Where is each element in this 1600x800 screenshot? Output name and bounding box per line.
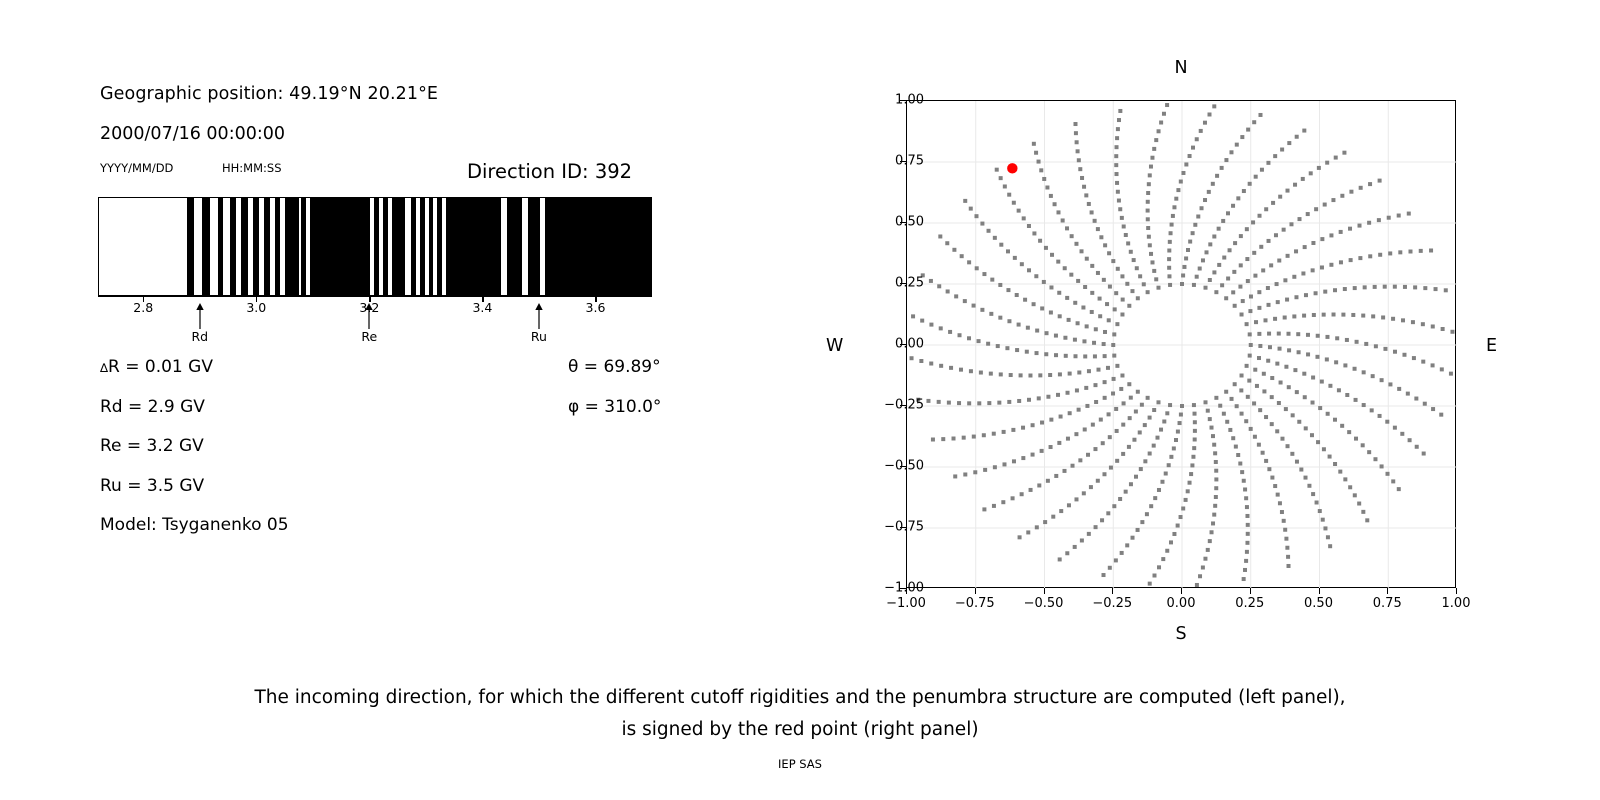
compass-south-label: S xyxy=(1175,624,1186,644)
penumbra-tick-label: 3.0 xyxy=(246,300,266,315)
penumbra-stripe xyxy=(275,198,281,295)
penumbra-stripe xyxy=(392,198,406,295)
time-format-hint: HH:MM:SS xyxy=(222,161,282,175)
x-axis-tick-mark xyxy=(1250,588,1251,594)
x-axis-tick-mark xyxy=(1319,588,1320,594)
penumbra-stripe xyxy=(310,198,370,295)
penumbra-stripe xyxy=(218,198,223,295)
penumbra-tick-label: 3.4 xyxy=(472,300,492,315)
y-axis-tick-label: 0.00 xyxy=(895,337,924,352)
parameter-text: Rd = 2.9 GV xyxy=(100,397,205,417)
y-axis-tick-label: 0.25 xyxy=(895,276,924,291)
date-format-hint: YYYY/MM/DD xyxy=(100,161,173,175)
x-axis-tick-label: −0.75 xyxy=(955,596,995,611)
footer-credit: IEP SAS xyxy=(778,757,822,771)
y-axis-tick-label: 1.00 xyxy=(895,93,924,108)
y-axis-tick-label: −1.00 xyxy=(884,581,924,596)
x-axis-tick-label: −0.50 xyxy=(1024,596,1064,611)
y-axis-tick-label: −0.25 xyxy=(884,398,924,413)
left-panel: Geographic position: 49.19°N 20.21°E 200… xyxy=(0,0,760,660)
penumbra-stripe xyxy=(253,198,259,295)
geographic-position-label: Geographic position: 49.19°N 20.21°E xyxy=(100,84,438,104)
parameter-text: Re = 3.2 GV xyxy=(100,436,204,456)
penumbra-stripe xyxy=(230,198,236,295)
parameter-text: Model: Tsyganenko 05 xyxy=(100,515,289,535)
penumbra-marker-label-re: Re xyxy=(361,329,377,344)
penumbra-stripe xyxy=(446,198,501,295)
x-axis-tick-label: 0.00 xyxy=(1167,596,1196,611)
penumbra-stripe xyxy=(374,198,379,295)
penumbra-chart xyxy=(98,197,652,296)
x-axis-tick-label: −1.00 xyxy=(886,596,926,611)
parameter-text: φ = 310.0° xyxy=(568,397,661,417)
parameter-text: θ = 69.89° xyxy=(568,357,661,377)
penumbra-stripe xyxy=(264,198,270,295)
caption-line-1: The incoming direction, for which the di… xyxy=(254,687,1345,708)
parameter-text: Ru = 3.5 GV xyxy=(100,476,204,496)
x-axis-tick-mark xyxy=(1181,588,1182,594)
selected-direction-point xyxy=(1007,163,1017,173)
penumbra-axis-line xyxy=(98,296,652,297)
x-axis-tick-mark xyxy=(1112,588,1113,594)
penumbra-stripe xyxy=(420,198,425,295)
compass-west-label: W xyxy=(826,336,843,356)
penumbra-stripe xyxy=(383,198,388,295)
y-axis-tick-label: 0.75 xyxy=(895,154,924,169)
penumbra-stripe xyxy=(507,198,523,295)
penumbra-bar xyxy=(98,197,652,296)
compass-north-label: N xyxy=(1174,58,1187,78)
penumbra-stripe xyxy=(187,198,194,295)
scatter-plot-area xyxy=(906,100,1456,588)
penumbra-stripe xyxy=(285,198,299,295)
penumbra-tick-label: 2.8 xyxy=(133,300,153,315)
penumbra-stripe xyxy=(545,198,652,295)
penumbra-marker-label-ru: Ru xyxy=(531,329,547,344)
penumbra-stripe xyxy=(411,198,416,295)
x-axis-tick-mark xyxy=(1044,588,1045,594)
direction-id-label: Direction ID: 392 xyxy=(467,160,632,183)
parameter-text: ∆R = 0.01 GV xyxy=(100,357,213,377)
penumbra-marker-arrow-re xyxy=(363,303,376,329)
x-axis-tick-label: 0.50 xyxy=(1304,596,1333,611)
penumbra-marker-arrow-rd xyxy=(193,303,206,329)
penumbra-stripe xyxy=(528,198,540,295)
x-axis-tick-label: 1.00 xyxy=(1442,596,1471,611)
penumbra-marker-arrow-ru xyxy=(532,303,545,329)
x-axis-tick-mark xyxy=(975,588,976,594)
datetime-label: 2000/07/16 00:00:00 xyxy=(100,124,285,144)
caption-line-2: is signed by the red point (right panel) xyxy=(621,719,978,740)
x-axis-tick-mark xyxy=(1456,588,1457,594)
x-axis-tick-mark xyxy=(1387,588,1388,594)
x-axis-tick-mark xyxy=(906,588,907,594)
penumbra-marker-label-rd: Rd xyxy=(191,329,208,344)
scatter-plot-svg xyxy=(907,101,1457,589)
x-axis-tick-label: −0.25 xyxy=(1092,596,1132,611)
penumbra-stripe xyxy=(437,198,442,295)
y-axis-tick-label: −0.75 xyxy=(884,520,924,535)
penumbra-tick-label: 3.6 xyxy=(586,300,606,315)
compass-east-label: E xyxy=(1486,336,1497,356)
y-axis-tick-label: 0.50 xyxy=(895,215,924,230)
direction-map-panel: N S W E −1.00−0.75−0.50−0.250.000.250.50… xyxy=(790,0,1600,660)
x-axis-tick-label: 0.25 xyxy=(1235,596,1264,611)
x-axis-tick-label: 0.75 xyxy=(1373,596,1402,611)
penumbra-stripe xyxy=(429,198,434,295)
penumbra-stripe xyxy=(241,198,247,295)
y-axis-tick-label: −0.50 xyxy=(884,459,924,474)
penumbra-stripe xyxy=(301,198,306,295)
penumbra-stripe xyxy=(202,198,210,295)
